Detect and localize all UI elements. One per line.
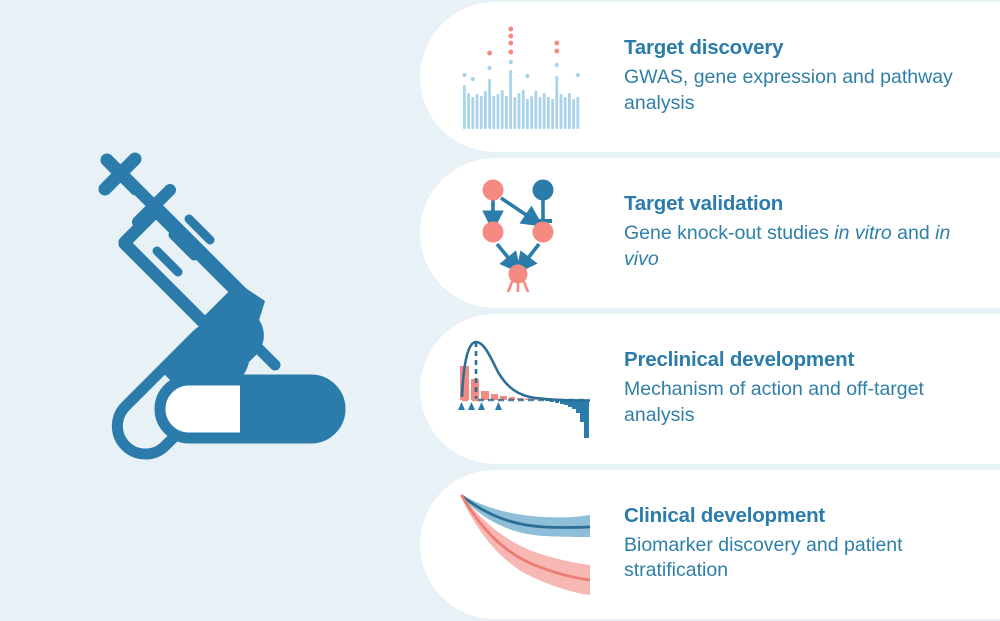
pk-waterfall-svg (454, 334, 590, 444)
node-n5-knockout (509, 265, 528, 284)
stage-card-preclinical-development[interactable]: Preclinical development Mechanism of act… (420, 314, 1000, 464)
stage-text-target-discovery: Target discovery GWAS, gene expression a… (624, 37, 1000, 116)
pk-waterfall-icon (442, 329, 602, 449)
node-n4 (533, 222, 554, 243)
triangle-markers (458, 402, 502, 410)
gene-network-svg (467, 174, 577, 292)
survival-curves-svg (454, 485, 590, 605)
stage-text-clinical-development: Clinical development Biomarker discovery… (624, 505, 1000, 584)
manhattan-plot-svg (462, 23, 582, 131)
stage-card-clinical-development[interactable]: Clinical development Biomarker discovery… (420, 470, 1000, 619)
stage-card-target-validation[interactable]: Target validation Gene knock-out studies… (420, 158, 1000, 308)
stage-description: Biomarker discovery and patient stratifi… (624, 533, 980, 584)
stage-title: Preclinical development (624, 349, 980, 372)
manhattan-blue-dots (462, 60, 580, 81)
stage-title: Target validation (624, 193, 980, 216)
stage-description: GWAS, gene expression and pathway analys… (624, 65, 980, 116)
stage-card-target-discovery[interactable]: Target discovery GWAS, gene expression a… (420, 2, 1000, 152)
stage-card-list: Target discovery GWAS, gene expression a… (0, 0, 1000, 621)
edge-n3-n5 (497, 244, 515, 266)
manhattan-plot-icon (442, 17, 602, 137)
network-nodes (483, 180, 554, 284)
stage-text-target-validation: Target validation Gene knock-out studies… (624, 193, 1000, 272)
stage-text-preclinical-development: Preclinical development Mechanism of act… (624, 349, 1000, 428)
node-n1 (483, 180, 504, 201)
stage-title: Clinical development (624, 505, 980, 528)
infographic-root: Target discovery GWAS, gene expression a… (0, 0, 1000, 621)
edge-n1-n4 (501, 198, 535, 221)
manhattan-red-dots (487, 27, 559, 56)
manhattan-bars (463, 70, 579, 129)
node-n3 (483, 222, 504, 243)
stage-description: Gene knock-out studies in vitro and in v… (624, 221, 980, 272)
node-n2 (533, 180, 554, 201)
edge-n4-n5 (522, 244, 539, 266)
gene-network-icon (442, 173, 602, 293)
waterfall-red-bars (460, 366, 543, 400)
stage-description: Mechanism of action and off-target analy… (624, 377, 980, 428)
stage-title: Target discovery (624, 37, 980, 60)
waterfall-blue-bars (545, 400, 589, 438)
survival-curves-icon (442, 485, 602, 605)
